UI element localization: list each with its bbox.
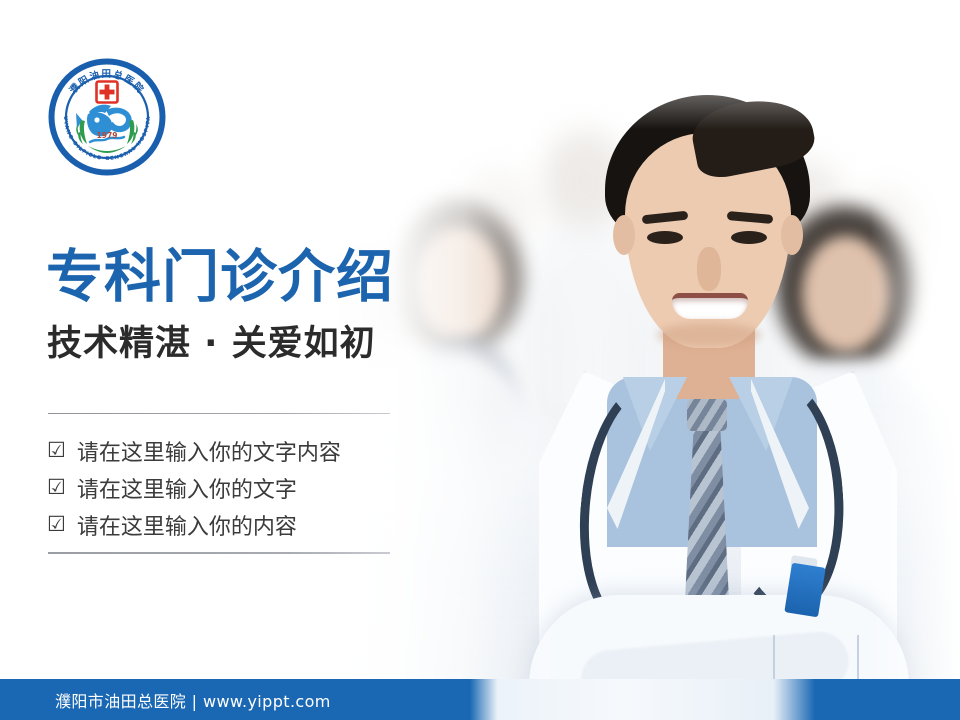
slide-root: 1979 濮阳油田总医院 PUYANG OILFIELD GENERAL HOS… (0, 0, 960, 720)
divider-bottom (48, 552, 390, 554)
coat-overlapping-footer (470, 679, 815, 720)
list-item-label: 请在这里输入你的文字内容 (77, 435, 341, 467)
checkbox-checked-icon: ☑ (47, 440, 66, 461)
checkbox-checked-icon: ☑ (47, 514, 66, 535)
list-item[interactable]: ☑ 请在这里输入你的内容 (47, 506, 407, 543)
foreground-doctor (545, 95, 885, 700)
divider-top (48, 413, 390, 414)
slide-subtitle: 技术精湛 · 关爱如初 (47, 325, 376, 364)
photo-canvas (330, 0, 960, 700)
hospital-logo-icon: 1979 濮阳油田总医院 PUYANG OILFIELD GENERAL HOS… (48, 58, 166, 176)
checkbox-checked-icon: ☑ (47, 477, 66, 498)
slide-title: 专科门诊介绍 (46, 248, 394, 308)
list-item-label: 请在这里输入你的内容 (77, 509, 297, 541)
team-photo (330, 0, 960, 700)
list-item[interactable]: ☑ 请在这里输入你的文字内容 (47, 432, 407, 469)
list-item-label: 请在这里输入你的文字 (77, 472, 297, 504)
footer-label: 濮阳市油田总医院 | www.yippt.com (55, 679, 331, 720)
logo-year: 1979 (97, 131, 118, 140)
bullet-list: ☑ 请在这里输入你的文字内容 ☑ 请在这里输入你的文字 ☑ 请在这里输入你的内容 (47, 432, 407, 543)
list-item[interactable]: ☑ 请在这里输入你的文字 (47, 469, 407, 506)
